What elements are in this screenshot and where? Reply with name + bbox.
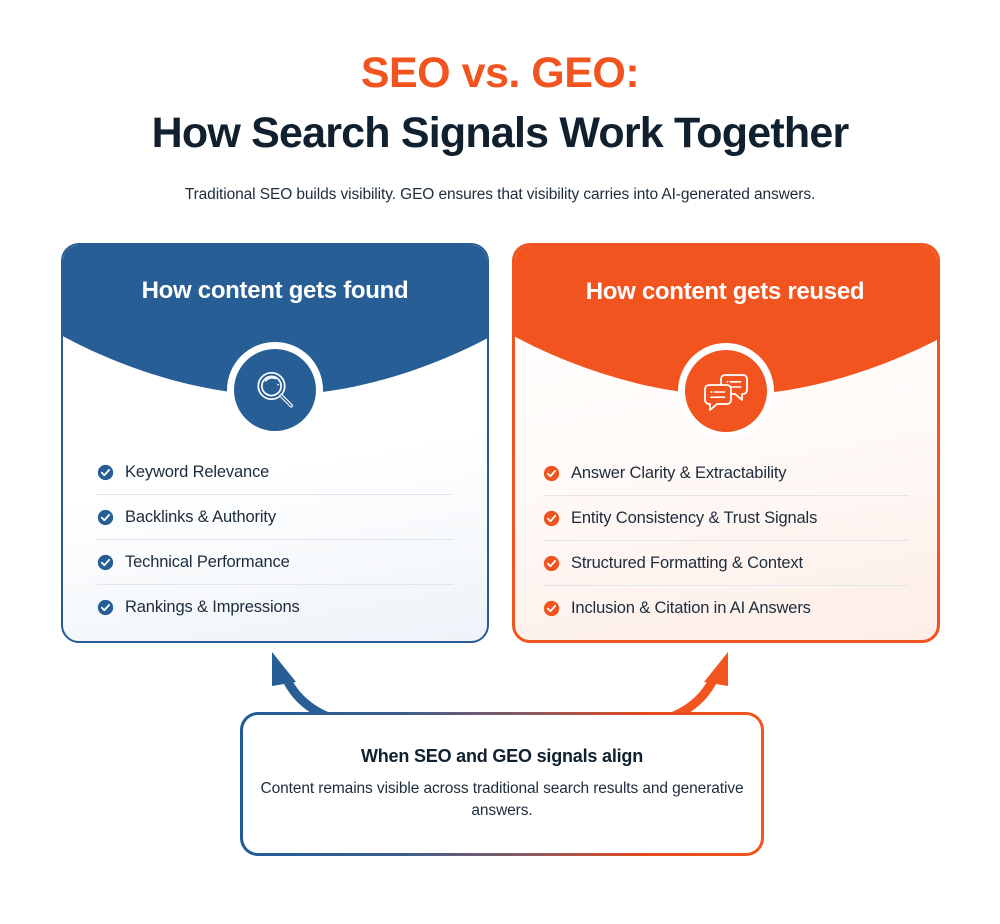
check-circle-icon [97,464,114,481]
card-geo-medallion [678,343,774,439]
list-item[interactable]: Rankings & Impressions [97,585,453,630]
card-geo-title: How content gets reused [514,278,936,306]
check-circle-icon [97,554,114,571]
page-title-line1: SEO vs. GEO: [0,0,1000,95]
list-item-label: Entity Consistency & Trust Signals [571,509,817,528]
check-circle-icon [543,600,560,617]
list-item[interactable]: Structured Formatting & Context [543,541,909,586]
callout-content: When SEO and GEO signals align Content r… [243,715,761,853]
check-circle-icon [97,599,114,616]
list-item[interactable]: Technical Performance [97,540,453,585]
list-item-label: Technical Performance [125,553,290,572]
list-item[interactable]: Backlinks & Authority [97,495,453,540]
speech-bubbles-icon [685,350,767,432]
list-item-label: Backlinks & Authority [125,508,276,527]
list-item[interactable]: Keyword Relevance [97,450,453,495]
header: SEO vs. GEO: How Search Signals Work Tog… [0,0,1000,204]
card-seo-medallion [227,342,323,438]
list-item-label: Inclusion & Citation in AI Answers [571,599,811,618]
check-circle-icon [543,555,560,572]
list-item-label: Keyword Relevance [125,463,269,482]
callout-body: Content remains visible across tradition… [243,767,761,823]
list-item-label: Structured Formatting & Context [571,554,803,573]
list-item[interactable]: Answer Clarity & Extractability [543,451,909,496]
callout-box: When SEO and GEO signals align Content r… [240,712,764,856]
page-subtitle: Traditional SEO builds visibility. GEO e… [0,155,1000,204]
card-seo: How content gets found Keyword [61,243,489,643]
list-item[interactable]: Entity Consistency & Trust Signals [543,496,909,541]
callout-title: When SEO and GEO signals align [361,746,643,767]
infographic-root: SEO vs. GEO: How Search Signals Work Tog… [0,0,1000,924]
list-item-label: Rankings & Impressions [125,598,300,617]
card-seo-title: How content gets found [63,277,487,305]
list-item[interactable]: Inclusion & Citation in AI Answers [543,586,909,631]
check-circle-icon [543,465,560,482]
check-circle-icon [543,510,560,527]
page-title-line2: How Search Signals Work Together [0,95,1000,155]
card-geo-list: Answer Clarity & Extractability Entity C… [515,451,937,631]
magnifying-glass-icon [234,349,316,431]
card-geo: How content gets reused [512,243,940,643]
card-seo-list: Keyword Relevance Backlinks & Authority … [63,450,487,630]
list-item-label: Answer Clarity & Extractability [571,464,786,483]
check-circle-icon [97,509,114,526]
